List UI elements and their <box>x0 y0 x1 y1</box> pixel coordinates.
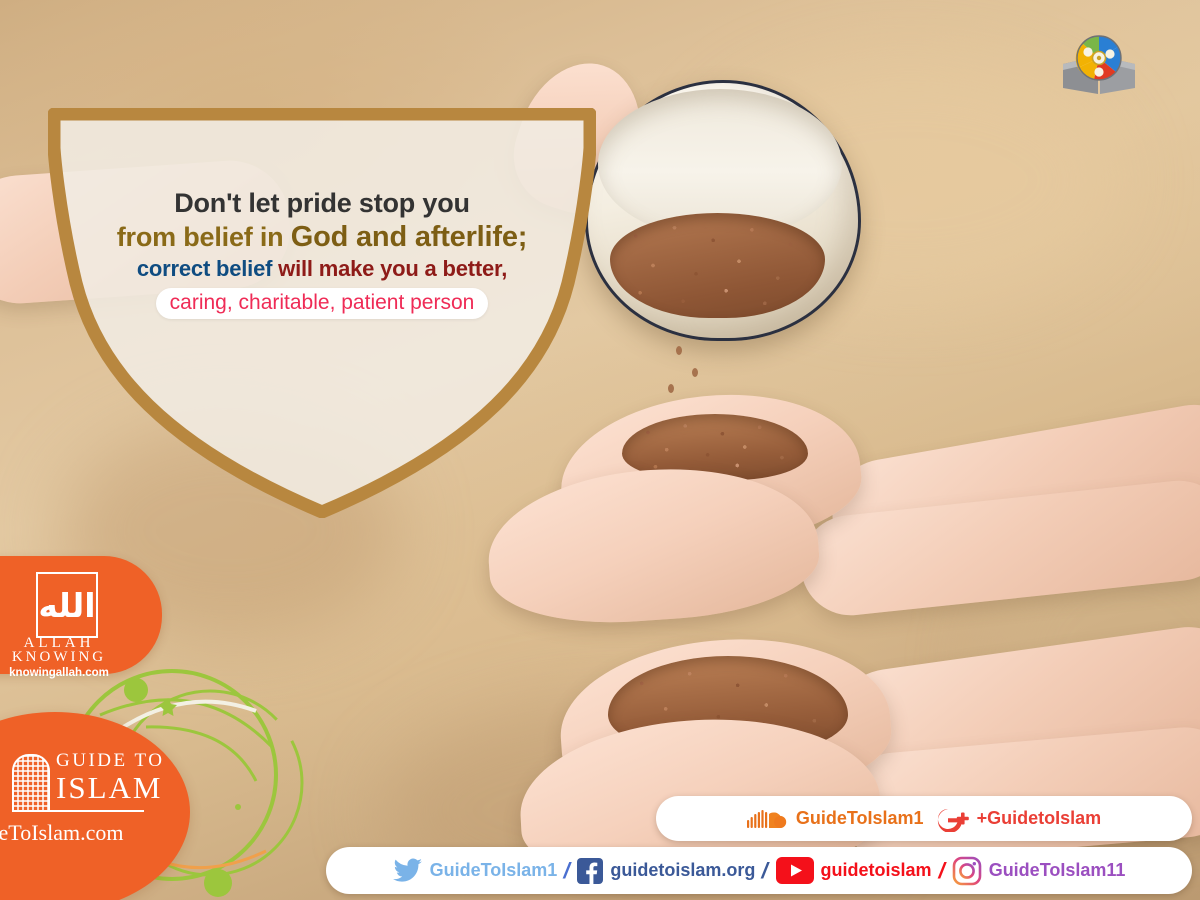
quote-line-4-wrap: caring, charitable, patient person <box>48 286 596 319</box>
falling-grain <box>692 368 698 377</box>
social-item-soundcloud[interactable]: GuideToIslam1 <box>747 807 924 831</box>
facebook-icon <box>577 858 603 884</box>
twitter-icon <box>393 858 423 884</box>
social-label-youtube: guidetoislam <box>821 860 932 881</box>
social-separator: / <box>562 858 574 884</box>
social-label-twitter: GuideToIslam1 <box>430 860 558 881</box>
guide-to-islam-rule <box>14 810 144 812</box>
globe-book-logo-icon <box>1058 28 1140 100</box>
quote-line-3: correct belief will make you a better, <box>48 258 596 280</box>
social-item-youtube[interactable]: guidetoislam <box>776 857 932 884</box>
social-separator: / <box>936 858 948 884</box>
social-bar-top: GuideToIslam1 +GuidetoIslam <box>656 796 1192 841</box>
soundcloud-icon <box>747 807 789 831</box>
youtube-icon <box>776 857 814 884</box>
social-bar-bottom: GuideToIslam1 / guidetoislam.org / guide… <box>326 847 1192 894</box>
social-item-instagram[interactable]: GuideToIslam11 <box>952 856 1126 886</box>
quote-block: Don't let pride stop you from belief in … <box>48 190 596 319</box>
social-label-facebook: guidetoislam.org <box>610 860 755 881</box>
allah-arabic-text: الله <box>38 574 96 636</box>
guide-to-islam-line-1: GUIDE TO <box>56 750 165 772</box>
quote-line-4-highlight: caring, charitable, patient person <box>156 288 489 319</box>
google-plus-icon <box>936 806 970 832</box>
quote-line-2-prefix: from belief in <box>117 222 291 252</box>
social-label-instagram: GuideToIslam11 <box>989 860 1126 881</box>
social-label-soundcloud: GuideToIslam1 <box>796 808 924 829</box>
guide-to-islam-url[interactable]: GuideToIslam.com <box>0 820 154 846</box>
brand-logo-top-right[interactable] <box>1058 28 1140 100</box>
allah-calligraphy-frame: الله <box>36 572 98 638</box>
social-item-twitter[interactable]: GuideToIslam1 <box>393 858 558 884</box>
social-item-facebook[interactable]: guidetoislam.org <box>577 858 755 884</box>
guide-to-islam-line-2: ISLAM <box>56 770 162 806</box>
quote-line-2-emphasis: God and afterlife; <box>291 221 527 253</box>
poster-canvas: Don't let pride stop you from belief in … <box>0 0 1200 900</box>
falling-grain <box>668 384 674 393</box>
quote-line-3-blue: correct belief <box>137 256 278 281</box>
social-separator: / <box>760 858 772 884</box>
quote-line-2: from belief in God and afterlife; <box>48 223 596 252</box>
social-label-googleplus: +GuidetoIslam <box>977 808 1102 829</box>
mosque-arch-icon <box>12 754 50 812</box>
falling-grain <box>676 346 682 355</box>
quote-line-1: Don't let pride stop you <box>48 190 596 217</box>
quote-line-3-red: will make you a better, <box>278 256 507 281</box>
social-item-googleplus[interactable]: +GuidetoIslam <box>936 806 1102 832</box>
instagram-icon <box>952 856 982 886</box>
grain-in-bowl <box>610 213 825 318</box>
